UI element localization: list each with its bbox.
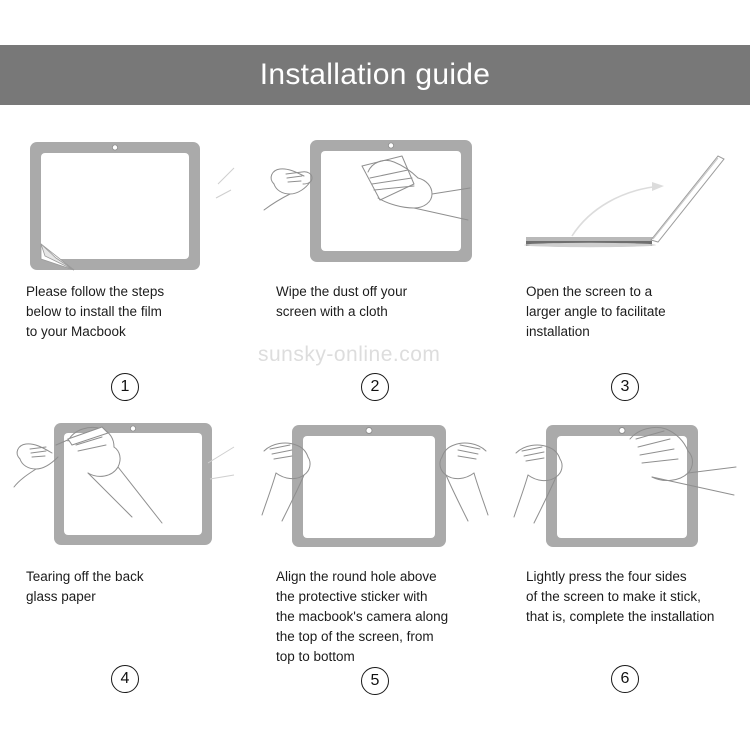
step-number-badge: 6 xyxy=(611,665,639,693)
step-5-illustration xyxy=(262,417,488,557)
step-1-illustration xyxy=(12,132,238,272)
step-number-badge: 4 xyxy=(111,665,139,693)
step-card-3: Open the screen to a larger angle to fac… xyxy=(500,130,750,415)
step-6-number-wrap: 6 xyxy=(512,665,738,715)
step-2-number-wrap: 2 xyxy=(262,373,488,415)
step-number-badge: 2 xyxy=(361,373,389,401)
step-card-1: Please follow the steps below to install… xyxy=(0,130,250,415)
laptop-open-angle-icon xyxy=(512,132,738,272)
installation-guide-page: Installation guide Please follow the ste… xyxy=(0,0,750,750)
step-1-number-wrap: 1 xyxy=(12,373,238,415)
tablet-tear-backing-icon xyxy=(12,417,238,557)
header-bar: Installation guide xyxy=(0,45,750,105)
tablet-align-two-hands-icon xyxy=(262,417,488,557)
step-5-number-wrap: 5 xyxy=(262,667,488,717)
step-1-text: Please follow the steps below to install… xyxy=(12,282,238,342)
step-card-2: Wipe the dust off your screen with a clo… xyxy=(250,130,500,415)
tablet-press-sides-icon xyxy=(512,417,738,557)
step-number-badge: 1 xyxy=(111,373,139,401)
step-card-4: Tearing off the back glass paper 4 xyxy=(0,415,250,715)
step-4-number-wrap: 4 xyxy=(12,665,238,715)
step-3-illustration xyxy=(512,132,738,272)
steps-grid: Please follow the steps below to install… xyxy=(0,130,750,730)
step-6-illustration xyxy=(512,417,738,557)
step-5-text: Align the round hole above the protectiv… xyxy=(262,567,488,667)
step-3-number-wrap: 3 xyxy=(512,373,738,415)
step-number-badge: 3 xyxy=(611,373,639,401)
tablet-peeling-film-icon xyxy=(12,132,238,272)
step-card-6: Lightly press the four sides of the scre… xyxy=(500,415,750,715)
step-6-text: Lightly press the four sides of the scre… xyxy=(512,567,738,627)
step-number-badge: 5 xyxy=(361,667,389,695)
tablet-wipe-cloth-icon xyxy=(262,132,488,272)
step-4-text: Tearing off the back glass paper xyxy=(12,567,238,607)
step-2-illustration xyxy=(262,132,488,272)
step-2-text: Wipe the dust off your screen with a clo… xyxy=(262,282,488,322)
step-4-illustration xyxy=(12,417,238,557)
page-title: Installation guide xyxy=(260,60,491,90)
step-3-text: Open the screen to a larger angle to fac… xyxy=(512,282,738,342)
step-card-5: Align the round hole above the protectiv… xyxy=(250,415,500,715)
